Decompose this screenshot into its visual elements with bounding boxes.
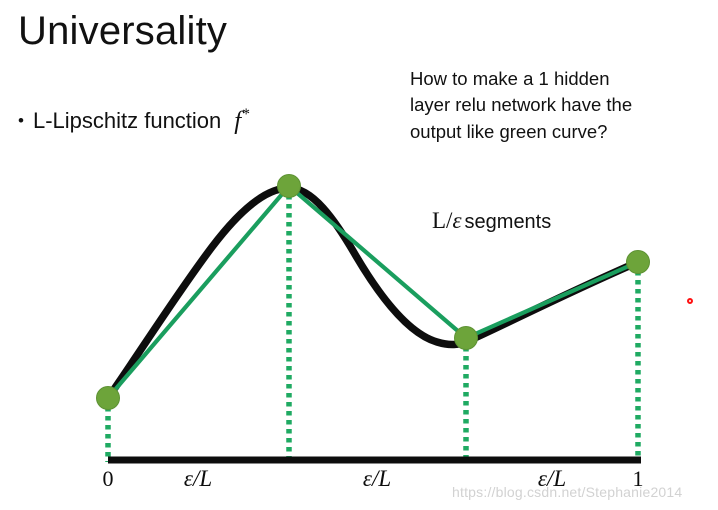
math-symbol-f: f* xyxy=(230,106,250,135)
question-line-1: How to make a 1 hidden xyxy=(410,66,710,92)
watermark-text: https://blog.csdn.net/Stephanie2014 xyxy=(452,484,682,500)
node-marker-1 xyxy=(278,175,301,198)
node-marker-3 xyxy=(627,251,650,274)
segments-annotation: L/εsegments xyxy=(432,208,551,234)
green-piecewise-polyline xyxy=(108,186,638,398)
question-text: How to make a 1 hidden layer relu networ… xyxy=(410,66,710,145)
question-line-2: layer relu network have the xyxy=(410,92,710,118)
x-axis-label-seg-2: ε/L xyxy=(363,466,391,492)
segments-epsilon: ε xyxy=(452,208,461,233)
black-function-curve xyxy=(108,188,638,398)
question-line-3: output like green curve? xyxy=(410,119,710,145)
segments-numerator: L/ xyxy=(432,208,452,233)
node-marker-2 xyxy=(455,327,478,350)
page-title: Universality xyxy=(18,8,227,54)
bullet-label: L-Lipschitz function xyxy=(33,108,221,134)
x-axis-label-seg-1: ε/L xyxy=(184,466,212,492)
math-symbol-f-superscript: * xyxy=(241,106,250,123)
segments-word: segments xyxy=(462,211,552,233)
laser-pointer-dot xyxy=(681,292,699,310)
x-axis-label-0: 0 xyxy=(103,466,114,492)
node-marker-0 xyxy=(97,387,120,410)
bullet-marker-icon: • xyxy=(18,112,24,129)
slide-canvas: Universality • L-Lipschitz function f* H… xyxy=(0,0,718,510)
bullet-item: • L-Lipschitz function f* xyxy=(18,106,250,135)
